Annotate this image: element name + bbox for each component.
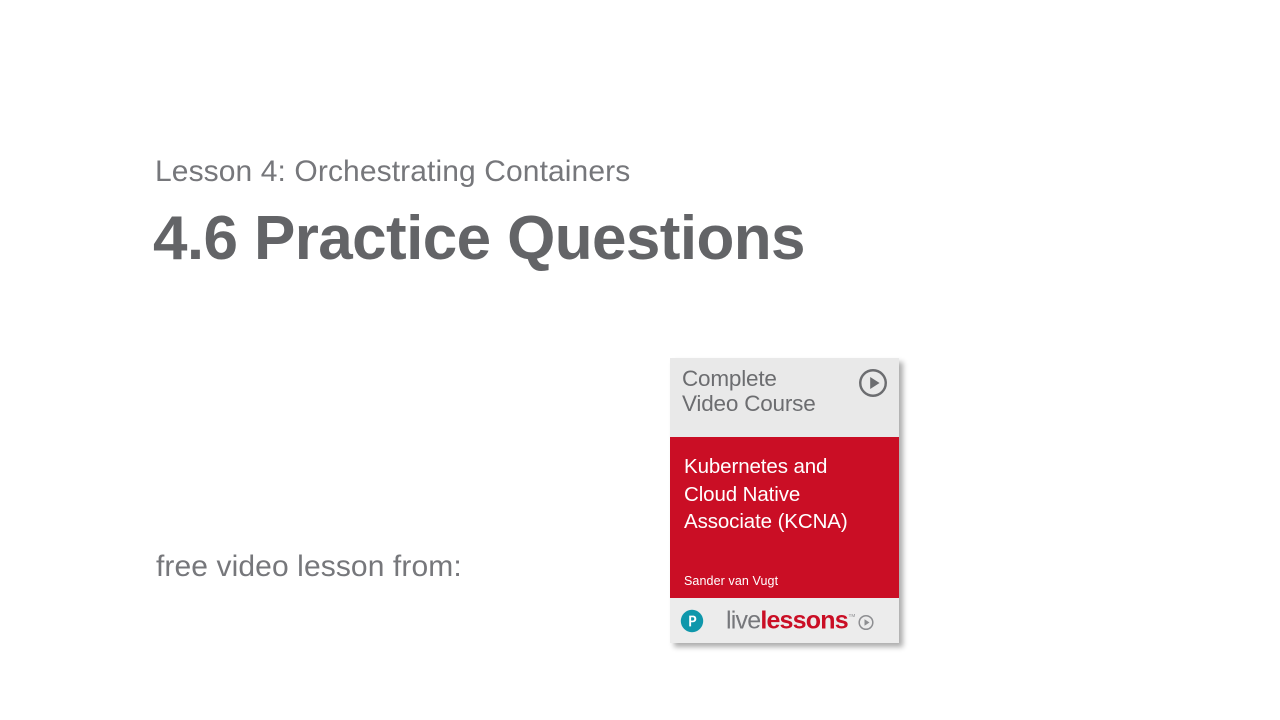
lesson-label: Lesson 4: Orchestrating Containers (155, 154, 630, 190)
cover-header-line-2: Video Course (682, 391, 816, 416)
cover-title-line-2: Cloud Native (684, 481, 885, 509)
cover-author-name: Sander van Vugt (684, 574, 778, 588)
cover-title-line-1: Kubernetes and (684, 453, 885, 481)
brand-text-lessons: lessons (760, 608, 848, 633)
livelessons-wordmark: livelessons™ (726, 608, 874, 633)
trademark-symbol: ™ (848, 613, 856, 621)
play-circle-icon (858, 610, 874, 626)
pearson-logo-icon (680, 609, 704, 633)
title-slide: Lesson 4: Orchestrating Containers 4.6 P… (0, 0, 1280, 720)
cover-header-band: Complete Video Course (670, 358, 899, 437)
cover-footer-band: livelessons™ (670, 598, 899, 643)
cover-title-line-3: Associate (KCNA) (684, 508, 885, 536)
page-title: 4.6 Practice Questions (153, 203, 805, 274)
brand-text-live: live (726, 608, 760, 633)
attribution-label: free video lesson from: (156, 549, 462, 585)
play-circle-icon (858, 368, 888, 398)
course-cover-image: Complete Video Course Kubernetes and Clo… (670, 358, 899, 643)
cover-course-title: Kubernetes and Cloud Native Associate (K… (684, 453, 885, 536)
cover-header-text: Complete Video Course (682, 366, 816, 416)
cover-body-band: Kubernetes and Cloud Native Associate (K… (670, 437, 899, 598)
cover-header-line-1: Complete (682, 366, 816, 391)
